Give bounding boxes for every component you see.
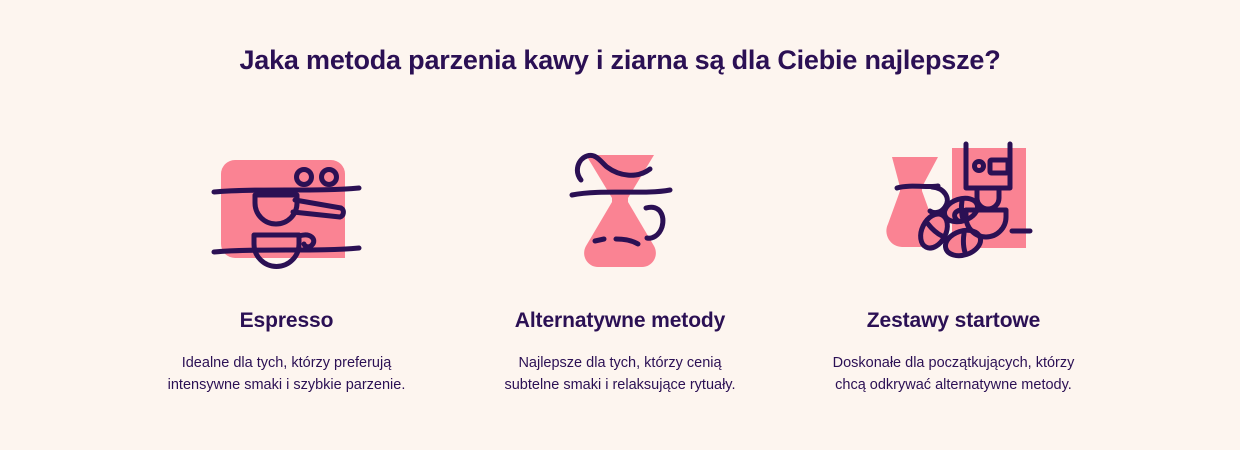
card-description-line-1: Idealne dla tych, którzy preferują — [182, 355, 392, 371]
card-description: Doskonałe dla początkujących, którzy chc… — [833, 353, 1075, 397]
card-starter-kits: Zestawy startowe Doskonałe dla początkuj… — [787, 130, 1120, 397]
card-title: Alternatywne metody — [515, 308, 725, 333]
card-espresso: Espresso Idealne dla tych, którzy prefer… — [120, 130, 453, 397]
card-title: Espresso — [240, 308, 334, 333]
espresso-machine-icon — [207, 130, 367, 270]
infographic-root: Jaka metoda parzenia kawy i ziarna są dl… — [0, 0, 1240, 450]
page-title: Jaka metoda parzenia kawy i ziarna są dl… — [0, 44, 1240, 76]
card-description: Idealne dla tych, którzy preferują inten… — [168, 353, 406, 397]
starter-kit-icon — [866, 130, 1041, 270]
card-description: Najlepsze dla tych, którzy cenią subteln… — [504, 353, 735, 397]
card-description-line-2: intensywne smaki i szybkie parzenie. — [168, 377, 406, 393]
card-description-line-1: Najlepsze dla tych, którzy cenią — [518, 355, 721, 371]
card-description-line-1: Doskonałe dla początkujących, którzy — [833, 355, 1075, 371]
card-title: Zestawy startowe — [867, 308, 1040, 333]
card-description-line-2: subtelne smaki i relaksujące rytuały. — [504, 377, 735, 393]
card-alternative-methods: Alternatywne metody Najlepsze dla tych, … — [454, 130, 787, 397]
pour-over-chemex-icon — [540, 130, 700, 270]
card-description-line-2: chcą odkrywać alternatywne metody. — [835, 377, 1072, 393]
cards-row: Espresso Idealne dla tych, którzy prefer… — [120, 130, 1120, 397]
